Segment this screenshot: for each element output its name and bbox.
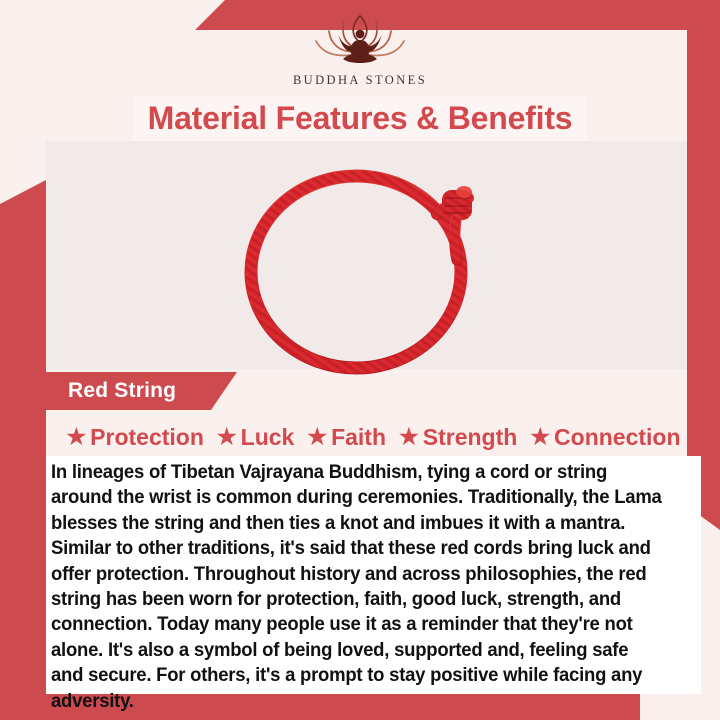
feature-label: Luck xyxy=(241,424,295,451)
frame-left-strip xyxy=(0,180,46,720)
feature-item-protection: ★ Protection xyxy=(66,424,203,451)
star-icon: ★ xyxy=(66,426,86,448)
lotus-meditation-icon xyxy=(307,12,413,72)
feature-item-connection: ★ Connection xyxy=(530,424,680,451)
feature-label: Strength xyxy=(423,424,518,451)
feature-list: ★ Protection ★ Luck ★ Faith ★ Strength ★… xyxy=(46,418,701,456)
brand-name: BUDDHA STONES xyxy=(293,73,427,88)
description-text: In lineages of Tibetan Vajrayana Buddhis… xyxy=(51,460,663,714)
description-panel: In lineages of Tibetan Vajrayana Buddhis… xyxy=(46,456,701,694)
title-band: Material Features & Benefits xyxy=(133,96,587,141)
star-icon: ★ xyxy=(399,426,419,448)
feature-label: Faith xyxy=(331,424,386,451)
feature-item-strength: ★ Strength xyxy=(399,424,517,451)
red-braided-cord-bracelet xyxy=(232,152,498,380)
brand-logo: BUDDHA STONES xyxy=(0,12,720,94)
page-title: Material Features & Benefits xyxy=(148,100,573,137)
feature-label: Connection xyxy=(554,424,681,451)
star-icon: ★ xyxy=(307,426,327,448)
feature-item-faith: ★ Faith xyxy=(307,424,386,451)
product-label-ribbon: Red String xyxy=(46,372,237,410)
infographic-canvas: BUDDHA STONES Material Features & Benefi… xyxy=(0,0,720,720)
feature-label: Protection xyxy=(90,424,204,451)
star-icon: ★ xyxy=(530,426,550,448)
star-icon: ★ xyxy=(217,426,237,448)
product-label: Red String xyxy=(46,379,176,403)
feature-item-luck: ★ Luck xyxy=(217,424,294,451)
